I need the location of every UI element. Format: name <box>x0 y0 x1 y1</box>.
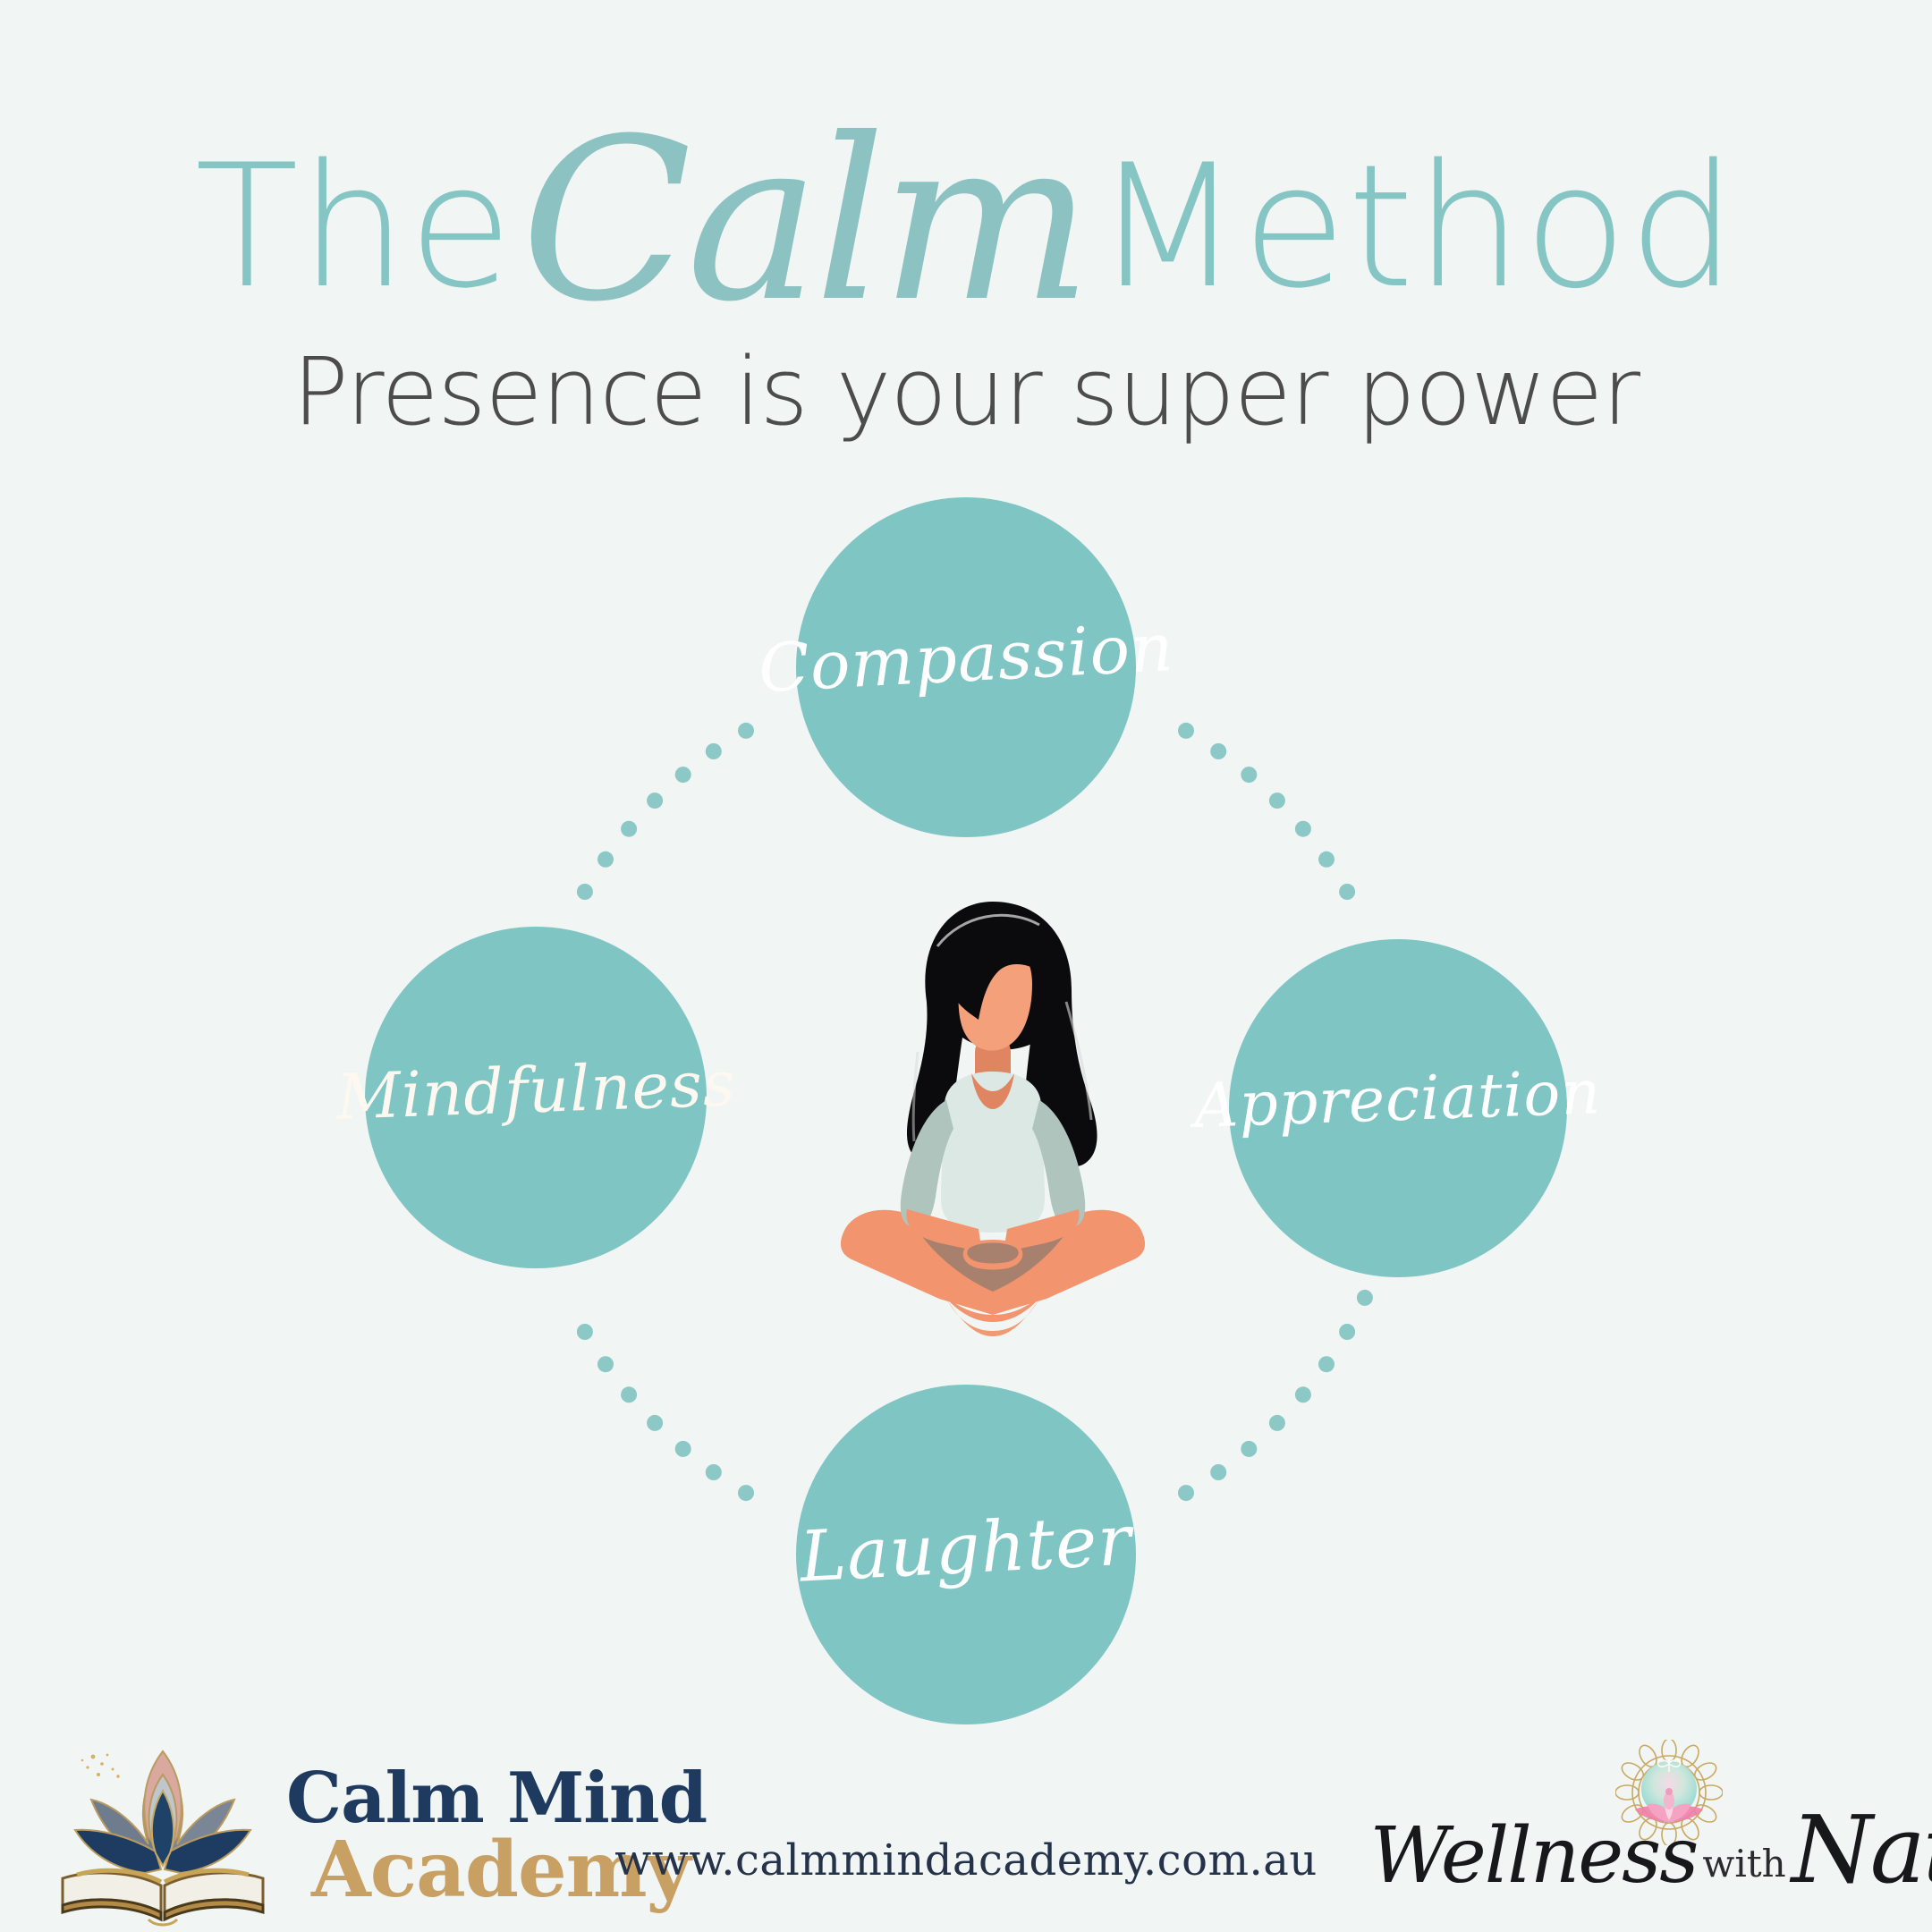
ring-dot <box>621 1386 637 1402</box>
ring-dot <box>1295 1386 1311 1402</box>
ring-dot <box>1241 1441 1257 1457</box>
ring-dot <box>1178 1485 1194 1501</box>
nat-word: Nat <box>1792 1795 1932 1904</box>
page-subtitle: Presence is your super power <box>0 343 1932 441</box>
ring-dot <box>1339 884 1355 900</box>
ring-dot <box>621 821 637 837</box>
ring-dot <box>577 1324 593 1340</box>
wellness-word: Wellness <box>1370 1811 1698 1901</box>
brand-line-1: Calm Mind <box>286 1766 707 1832</box>
title-part-2: Method <box>1095 128 1738 326</box>
ring-dot <box>597 1356 614 1372</box>
ring-dot <box>1210 743 1226 759</box>
ring-dot <box>1269 792 1285 809</box>
ring-dot <box>738 723 754 739</box>
wellness-with-nat-logo[interactable]: Wellness with Nat <box>1440 1740 1887 1932</box>
ring-dot <box>1318 1356 1335 1372</box>
ring-dot <box>1318 852 1335 868</box>
diagram-node-compassion[interactable]: Compassion <box>796 497 1136 837</box>
node-label-compassion: Compassion <box>757 609 1176 708</box>
ring-dot <box>647 792 663 809</box>
diagram-node-laughter[interactable]: Laughter <box>796 1385 1136 1724</box>
node-label-appreciation: Appreciation <box>1193 1057 1603 1142</box>
ring-dot <box>1339 1324 1355 1340</box>
diagram-node-mindfulness[interactable]: Mindfulness <box>365 927 707 1268</box>
ring-dot <box>1210 1464 1226 1480</box>
node-label-laughter: Laughter <box>798 1500 1134 1597</box>
node-label-mindfulness: Mindfulness <box>335 1046 736 1134</box>
ring-dot <box>706 743 722 759</box>
with-word: with <box>1697 1842 1791 1885</box>
ring-dot <box>1241 767 1257 783</box>
page-title: TheCalmMethod <box>0 97 1932 320</box>
header: TheCalmMethod Presence is your super pow… <box>0 97 1932 441</box>
ring-dot <box>675 767 691 783</box>
meditating-woman-icon <box>832 894 1154 1360</box>
ring-dot <box>647 1415 663 1431</box>
title-part-1: The <box>195 128 513 326</box>
ring-dot <box>675 1441 691 1457</box>
wellness-wordmark: Wellness with Nat <box>1440 1795 1887 1920</box>
poster-canvas: TheCalmMethod Presence is your super pow… <box>0 0 1932 1932</box>
ring-dot <box>1178 723 1194 739</box>
ring-dot <box>597 852 614 868</box>
diagram-node-appreciation[interactable]: Appreciation <box>1229 939 1567 1277</box>
ring-dot <box>706 1464 722 1480</box>
ring-dot <box>1357 1290 1373 1306</box>
ring-dot <box>1295 821 1311 837</box>
ring-dot <box>738 1485 754 1501</box>
ring-dot <box>1269 1415 1285 1431</box>
ring-dot <box>577 884 593 900</box>
title-script-word: Calm <box>513 90 1094 351</box>
